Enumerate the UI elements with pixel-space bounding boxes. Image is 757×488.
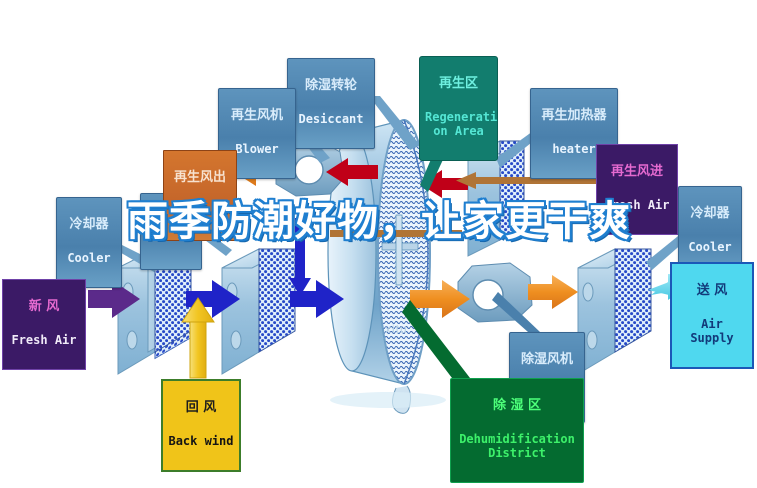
label-regen-blower-cn: 再生风机 xyxy=(224,109,290,124)
label-cooler-left-en: Cooler xyxy=(62,252,116,266)
label-cooler-left-cn: 冷却器 xyxy=(62,218,116,233)
label-fresh-air-in-en: Fresh Air xyxy=(8,334,80,348)
label-cooler-right-cn: 冷却器 xyxy=(684,207,736,222)
label-desiccant-rotor[interactable]: 除湿转轮 Desiccant xyxy=(287,58,375,149)
label-cooler-right-en: Cooler xyxy=(684,241,736,255)
label-regen-heater-cn: 再生加热器 xyxy=(536,109,612,124)
label-desiccant-rotor-cn: 除湿转轮 xyxy=(293,79,369,94)
label-air-supply-en: Air Supply xyxy=(677,318,747,346)
label-desiccant-rotor-en: Desiccant xyxy=(293,113,369,127)
label-dehumidification-district-cn: 除 湿 区 xyxy=(456,399,578,414)
label-dehumidification-district-en: Dehumidification District xyxy=(456,433,578,461)
label-dehum-blower-cn: 除湿风机 xyxy=(515,353,579,368)
diagram-canvas: 除湿转轮 Desiccant 再生风机 Blower 再生风出 Exhaust … xyxy=(0,0,757,488)
cooler-unit-mid xyxy=(222,249,295,374)
label-back-wind[interactable]: 回 风 Back wind xyxy=(161,379,241,472)
label-regeneration-area-en: Regenerati on Area xyxy=(425,111,492,139)
label-fresh-air-in-cn: 新 风 xyxy=(8,300,80,315)
label-cooler-left[interactable]: 冷却器 Cooler xyxy=(56,197,122,288)
dehum-blower-unit xyxy=(458,263,532,322)
promo-headline: 雨季防潮好物，让家更干爽 xyxy=(118,203,640,241)
label-air-supply[interactable]: 送 风 Air Supply xyxy=(670,262,754,369)
label-regen-exhaust-cn: 再生风出 xyxy=(169,171,231,186)
label-dehumidification-district[interactable]: 除 湿 区 Dehumidification District xyxy=(450,378,584,483)
label-air-supply-cn: 送 风 xyxy=(677,284,747,299)
label-back-wind-cn: 回 风 xyxy=(168,401,234,416)
label-fresh-air-in[interactable]: 新 风 Fresh Air xyxy=(2,279,86,370)
label-regen-fresh-air-cn: 再生风进 xyxy=(602,165,672,180)
label-regeneration-area[interactable]: 再生区 Regenerati on Area xyxy=(419,56,498,161)
label-regeneration-area-cn: 再生区 xyxy=(425,77,492,92)
watermark-text: xitu xyxy=(385,322,408,336)
label-back-wind-en: Back wind xyxy=(168,435,234,449)
cooler-unit-right xyxy=(578,249,651,374)
